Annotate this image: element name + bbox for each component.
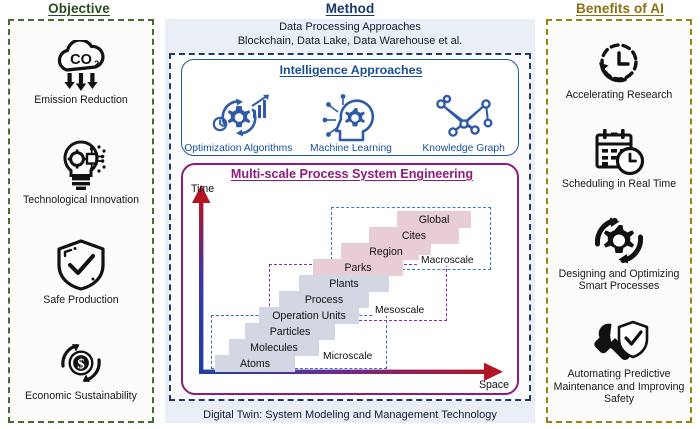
method-header-line2: Blockchain, Data Lake, Data Warehouse et…	[165, 35, 535, 49]
intelligence-item-optimization-algorithms[interactable]: Optimization Algorithms	[182, 92, 294, 154]
scale-block-region[interactable]: Region	[341, 243, 431, 260]
intelligence-item-label: Machine Learning	[310, 143, 392, 154]
benefits-column-title: Benefits of AI	[540, 1, 700, 16]
mesoscale-label: Mesoscale	[373, 305, 426, 316]
benefits-item-accelerating-research[interactable]: Accelerating Research	[550, 37, 688, 101]
objective-item-economic-sustainability[interactable]: $ Economic Sustainability	[12, 338, 150, 402]
gear-chart-icon	[203, 92, 273, 142]
benefits-item-label: Accelerating Research	[566, 89, 673, 101]
infographic-root: Objective CO 2 Emission Red	[0, 0, 700, 429]
svg-text:CO: CO	[70, 52, 92, 68]
method-panel: Data Processing Approaches Blockchain, D…	[165, 19, 535, 423]
scale-block-atoms[interactable]: Atoms	[215, 355, 295, 372]
network-nodes-icon	[429, 92, 499, 142]
method-footer-text: Digital Twin: System Modeling and Manage…	[165, 409, 535, 421]
intelligence-item-machine-learning[interactable]: Machine Learning	[295, 92, 407, 154]
intelligence-item-label: Knowledge Graph	[422, 143, 504, 154]
scale-block-process[interactable]: Process	[279, 291, 369, 308]
benefits-panel: Accelerating Research	[546, 19, 692, 423]
space-axis-label: Space	[479, 379, 509, 391]
intelligence-item-knowledge-graph[interactable]: Knowledge Graph	[408, 92, 520, 154]
scale-block-parks[interactable]: Parks	[313, 259, 403, 276]
objective-item-safe-production[interactable]: Safe Production	[12, 238, 150, 306]
method-inner-dashed-area: Intelligence Approaches	[169, 53, 531, 401]
method-column-title: Method	[165, 1, 535, 16]
shield-check-icon	[51, 238, 111, 292]
objective-item-label: Safe Production	[43, 294, 118, 306]
intelligence-item-label: Optimization Algorithms	[184, 143, 292, 154]
objective-panel: CO 2 Emission Reduction	[8, 19, 154, 423]
calendar-clock-icon	[590, 126, 648, 176]
scale-block-plants[interactable]: Plants	[299, 275, 389, 292]
method-header-line1: Data Processing Approaches	[165, 21, 535, 35]
wrench-shield-icon	[589, 318, 649, 366]
svg-text:2: 2	[94, 59, 99, 70]
objective-item-label: Emission Reduction	[34, 94, 128, 106]
benefits-item-label: Designing and Optimizing Smart Processes	[550, 268, 688, 293]
objective-item-list: CO 2 Emission Reduction	[10, 21, 152, 421]
benefits-item-designing-optimizing[interactable]: Designing and Optimizing Smart Processes	[550, 216, 688, 293]
objective-item-label: Economic Sustainability	[25, 390, 137, 402]
time-axis-label: Time	[191, 183, 214, 195]
objective-column-title: Objective	[0, 1, 158, 16]
objective-item-label: Technological Innovation	[23, 194, 139, 206]
objective-item-technological-innovation[interactable]: Technological Innovation	[12, 138, 150, 206]
gear-cycle-icon	[590, 216, 648, 266]
scale-block-global[interactable]: Global	[397, 211, 471, 228]
svg-text:$: $	[77, 356, 85, 372]
scale-block-particles[interactable]: Particles	[245, 323, 335, 340]
method-header-text: Data Processing Approaches Blockchain, D…	[165, 21, 535, 48]
scale-block-molecules[interactable]: Molecules	[229, 339, 319, 356]
benefits-item-label: Scheduling in Real Time	[562, 178, 676, 190]
scale-block-cites[interactable]: Cites	[369, 227, 459, 244]
multiscale-box: Multi-scale Process System Engineering	[181, 163, 519, 395]
intelligence-approaches-items: Optimization Algorithms	[182, 80, 520, 154]
scale-block-operation-units[interactable]: Operation Units	[259, 307, 359, 324]
macroscale-label: Macroscale	[419, 255, 476, 266]
microscale-label: Microscale	[321, 351, 374, 362]
benefits-item-scheduling-real-time[interactable]: Scheduling in Real Time	[550, 126, 688, 190]
head-gear-icon	[316, 92, 386, 142]
intelligence-approaches-box: Intelligence Approaches	[181, 59, 519, 156]
co2-cloud-icon: CO 2	[50, 40, 112, 92]
clock-arrow-icon	[590, 37, 648, 87]
dollar-recycle-icon: $	[51, 338, 111, 388]
benefits-item-list: Accelerating Research	[548, 21, 690, 421]
objective-item-emission-reduction[interactable]: CO 2 Emission Reduction	[12, 40, 150, 106]
intelligence-approaches-title: Intelligence Approaches	[182, 63, 520, 77]
benefits-item-label: Automating Predictive Maintenance and Im…	[550, 368, 688, 405]
lightbulb-circuit-icon	[50, 138, 112, 192]
benefits-item-automating-predictive-maintenance[interactable]: Automating Predictive Maintenance and Im…	[550, 318, 688, 405]
